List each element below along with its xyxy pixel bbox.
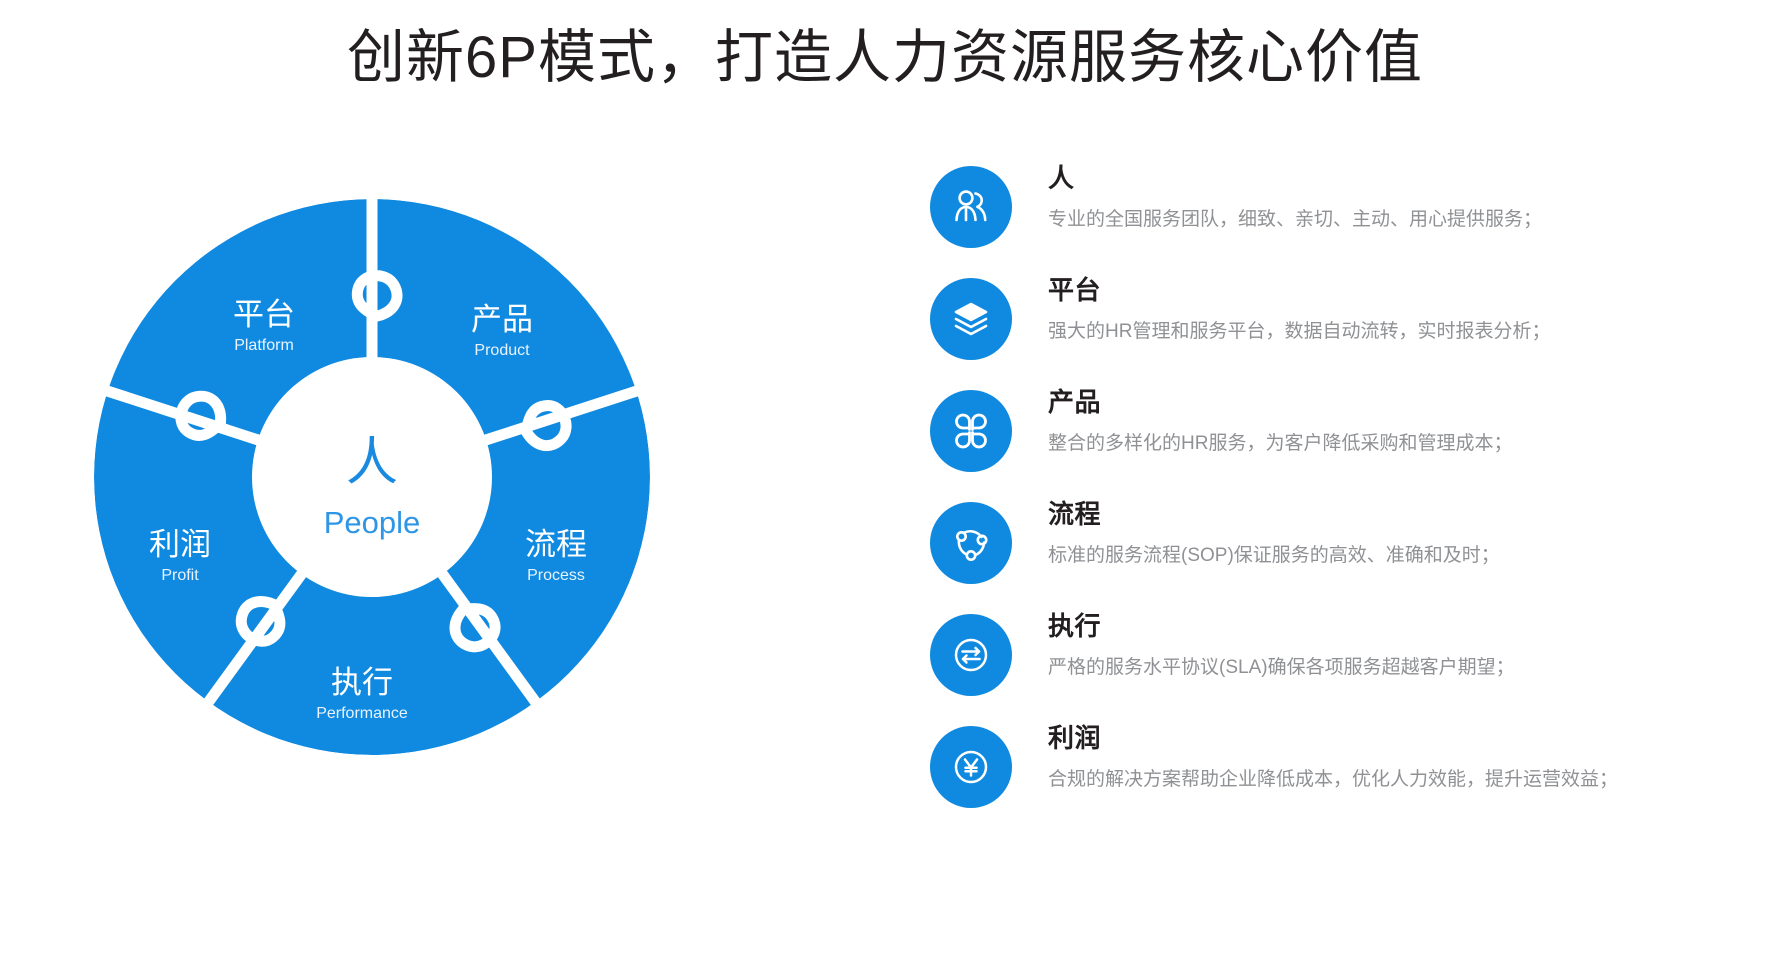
- feature-desc: 严格的服务水平协议(SLA)确保各项服务超越客户期望；: [1048, 656, 1515, 681]
- exchange-arrows-icon: [930, 614, 1012, 696]
- feature-row-platform[interactable]: 平台 强大的HR管理和服务平台，数据自动流转，实时报表分析；: [930, 272, 1730, 384]
- feature-list: 人 专业的全国服务团队，细致、亲切、主动、用心提供服务； 平台 强大的HR管理和…: [930, 160, 1730, 832]
- feature-desc: 整合的多样化的HR服务，为客户降低采购和管理成本；: [1048, 432, 1512, 457]
- layers-icon: [930, 278, 1012, 360]
- feature-title: 人: [1048, 162, 1542, 195]
- segment-label-cn: 执行: [331, 665, 393, 700]
- feature-desc: 合规的解决方案帮助企业降低成本，优化人力效能，提升运营效益；: [1048, 768, 1618, 793]
- feature-desc: 专业的全国服务团队，细致、亲切、主动、用心提供服务；: [1048, 208, 1542, 233]
- segment-product[interactable]: 产品 Product: [471, 302, 533, 359]
- segment-label-en: Profit: [161, 567, 199, 584]
- users-icon: [930, 166, 1012, 248]
- segment-label-cn: 流程: [525, 527, 587, 562]
- feature-title: 平台: [1048, 274, 1550, 307]
- segment-label-en: Platform: [234, 337, 294, 354]
- segment-label-cn: 平台: [233, 297, 295, 332]
- feature-row-profit[interactable]: 利润 合规的解决方案帮助企业降低成本，优化人力效能，提升运营效益；: [930, 720, 1730, 832]
- feature-text: 人 专业的全国服务团队，细致、亲切、主动、用心提供服务；: [1012, 160, 1542, 232]
- feature-text: 平台 强大的HR管理和服务平台，数据自动流转，实时报表分析；: [1012, 272, 1550, 344]
- feature-row-process[interactable]: 流程 标准的服务流程(SOP)保证服务的高效、准确和及时；: [930, 496, 1730, 608]
- feature-row-performance[interactable]: 执行 严格的服务水平协议(SLA)确保各项服务超越客户期望；: [930, 608, 1730, 720]
- core-label-en: People: [324, 505, 421, 540]
- feature-text: 利润 合规的解决方案帮助企业降低成本，优化人力效能，提升运营效益；: [1012, 720, 1618, 792]
- six-p-donut-diagram: 人 People 平台 Platform 产品 Product 流程 Proce…: [90, 185, 670, 770]
- feature-title: 产品: [1048, 386, 1512, 419]
- page-title: 创新6P模式，打造人力资源服务核心价值: [0, 22, 1770, 95]
- core-label-cn: 人: [346, 434, 398, 492]
- feature-desc: 标准的服务流程(SOP)保证服务的高效、准确和及时；: [1048, 544, 1500, 569]
- segment-label-en: Performance: [316, 705, 408, 722]
- segment-label-en: Process: [527, 567, 585, 584]
- feature-row-people[interactable]: 人 专业的全国服务团队，细致、亲切、主动、用心提供服务；: [930, 160, 1730, 272]
- feature-row-product[interactable]: 产品 整合的多样化的HR服务，为客户降低采购和管理成本；: [930, 384, 1730, 496]
- yuan-coin-icon: [930, 726, 1012, 808]
- feature-text: 产品 整合的多样化的HR服务，为客户降低采购和管理成本；: [1012, 384, 1512, 456]
- feature-text: 执行 严格的服务水平协议(SLA)确保各项服务超越客户期望；: [1012, 608, 1515, 680]
- segment-process[interactable]: 流程 Process: [525, 527, 587, 584]
- segment-label-en: Product: [474, 342, 530, 359]
- feature-desc: 强大的HR管理和服务平台，数据自动流转，实时报表分析；: [1048, 320, 1550, 345]
- slide-root: 创新6P模式，打造人力资源服务核心价值: [0, 0, 1770, 969]
- share-nodes-icon: [930, 502, 1012, 584]
- segment-label-cn: 产品: [471, 302, 533, 337]
- feature-title: 执行: [1048, 610, 1515, 643]
- feature-title: 利润: [1048, 722, 1618, 755]
- feature-text: 流程 标准的服务流程(SOP)保证服务的高效、准确和及时；: [1012, 496, 1500, 568]
- grid-petals-icon: [930, 390, 1012, 472]
- segment-label-cn: 利润: [149, 527, 211, 562]
- feature-title: 流程: [1048, 498, 1500, 531]
- segment-platform[interactable]: 平台 Platform: [233, 297, 295, 354]
